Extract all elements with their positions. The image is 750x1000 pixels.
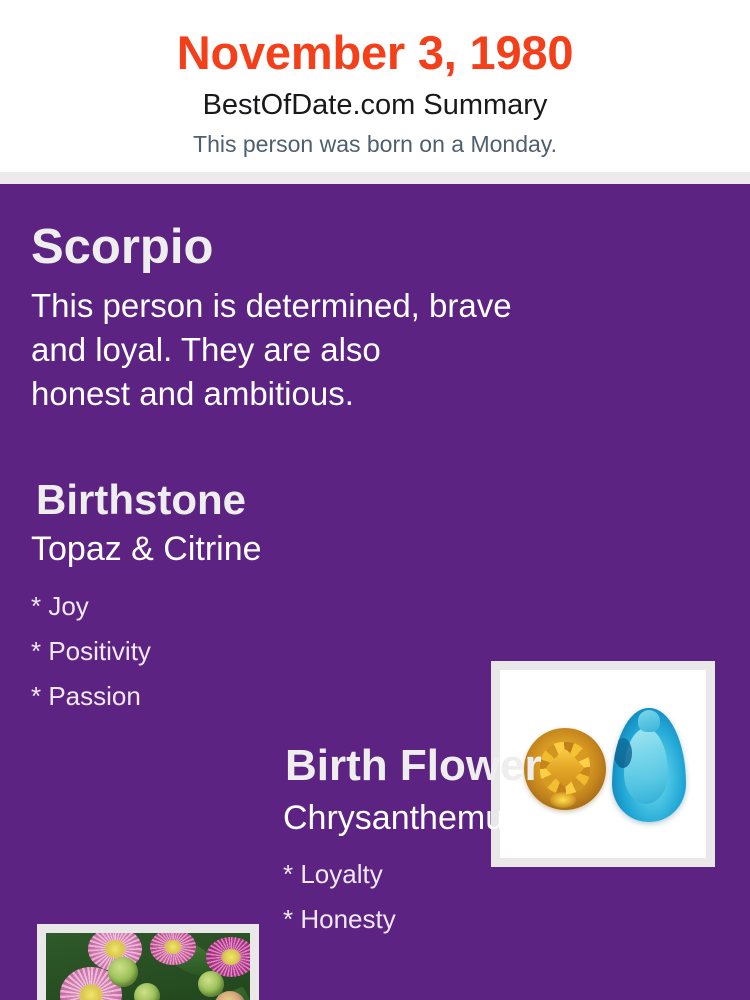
site-name: BestOfDate.com Summary bbox=[0, 86, 750, 124]
birth-day-tagline: This person was born on a Monday. bbox=[0, 129, 750, 159]
content-panel: Scorpio This person is determined, brave… bbox=[0, 184, 750, 1000]
birthstone-trait: * Positivity bbox=[31, 629, 451, 674]
zodiac-description-line: This person is determined, brave bbox=[31, 284, 711, 328]
header-divider bbox=[0, 172, 750, 184]
citrine-glow bbox=[550, 792, 576, 808]
birth-flower-image-frame bbox=[37, 924, 259, 1000]
topaz-tip bbox=[638, 710, 660, 732]
birthstone-trait: * Passion bbox=[31, 674, 451, 719]
blue-topaz-gem-icon bbox=[612, 708, 686, 822]
birth-flower-trait: * Honesty bbox=[283, 897, 703, 942]
summary-card: November 3, 1980 BestOfDate.com Summary … bbox=[0, 0, 750, 1000]
birthstone-trait: * Joy bbox=[31, 584, 451, 629]
zodiac-description-line: and loyal. They are also bbox=[31, 328, 711, 372]
birthstone-traits: * Joy * Positivity * Passion bbox=[31, 584, 451, 719]
birth-flower-trait: * Loyalty bbox=[283, 852, 703, 897]
birthstone-heading: Birthstone bbox=[36, 475, 246, 525]
zodiac-sign-title: Scorpio bbox=[31, 218, 213, 276]
chrysanthemum-photo bbox=[46, 933, 250, 1000]
page-title: November 3, 1980 bbox=[0, 24, 750, 82]
zodiac-description: This person is determined, brave and loy… bbox=[31, 284, 711, 416]
birth-flower-name: Chrysanthemum bbox=[283, 797, 532, 839]
birthstone-name: Topaz & Citrine bbox=[31, 528, 262, 570]
birth-flower-image bbox=[46, 933, 250, 1000]
flower-bud bbox=[134, 983, 160, 1000]
birth-flower-traits: * Loyalty * Honesty bbox=[283, 852, 703, 942]
zodiac-description-line: honest and ambitious. bbox=[31, 372, 711, 416]
birth-flower-heading: Birth Flower bbox=[285, 740, 542, 792]
header: November 3, 1980 BestOfDate.com Summary … bbox=[0, 0, 750, 172]
flower-bud bbox=[108, 957, 138, 987]
